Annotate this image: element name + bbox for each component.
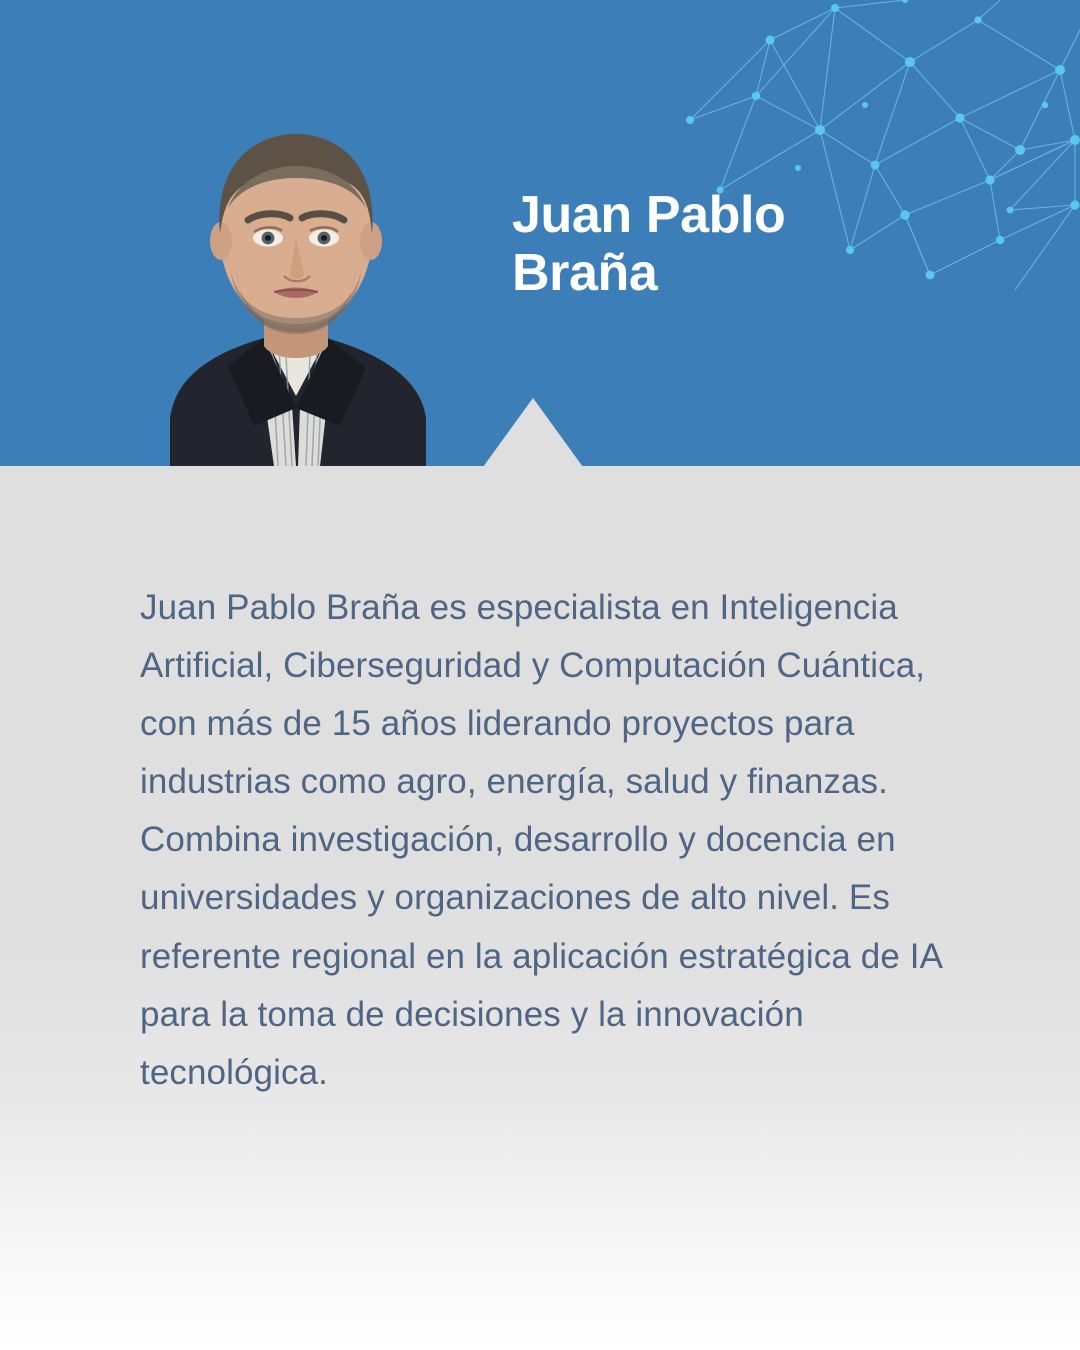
bio-text: Juan Pablo Braña es especialista en Inte… [140,579,986,1102]
hero-banner: Juan Pablo Braña [0,0,1080,466]
speaker-portrait [78,96,508,466]
triangle-accent-icon [483,398,583,467]
speaker-name-line2: Braña [512,244,942,302]
speaker-name-line1: Juan Pablo [512,186,942,244]
speaker-profile-card: Juan Pablo Braña Juan Pablo Braña es esp… [0,0,1080,1350]
avatar [78,96,508,466]
speaker-name: Juan Pablo Braña [512,186,942,302]
